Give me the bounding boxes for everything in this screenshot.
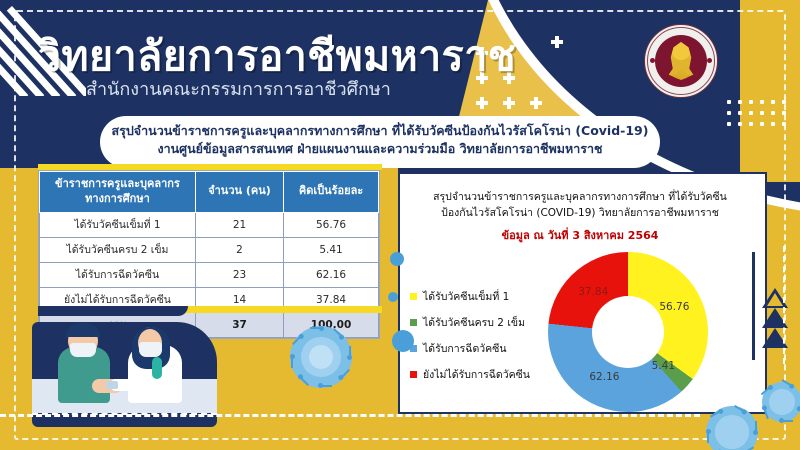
- table-header-row: ข้าราชการครูและบุคลากรทางการศึกษา จำนวน …: [40, 172, 379, 213]
- table-cell-label: ได้รับวัคซีนครบ 2 เข็ม: [40, 237, 196, 262]
- legend-swatch-icon: [410, 319, 417, 326]
- donut-center-hole: [592, 296, 664, 368]
- table-cell-percent: 5.41: [284, 237, 379, 262]
- syringe-icon: [106, 381, 118, 389]
- patient-face-mask: [70, 343, 96, 357]
- chart-title: สรุปจำนวนข้าราชการครูและบุคลากรทางการศึก…: [404, 190, 756, 222]
- header-right-yellow-strip: [740, 0, 800, 182]
- nurse-face-mask: [139, 342, 162, 357]
- donut-data-label: 5.41: [652, 360, 675, 372]
- coronavirus-particle-icon: [390, 252, 404, 266]
- coronavirus-particle-icon: [706, 406, 758, 450]
- table-row: ได้รับวัคซีนเข็มที่ 1 21 56.76: [40, 212, 379, 237]
- college-seal-logo: [644, 24, 718, 98]
- plus-decor-icon: [551, 36, 563, 48]
- banner-line-2: งานศูนย์ข้อมูลสารสนเทศ ฝ่ายแผนงานและความ…: [100, 139, 660, 159]
- virus-core: [715, 415, 748, 448]
- donut-data-label: 37.84: [578, 286, 608, 298]
- donut-data-label: 62.16: [589, 371, 619, 383]
- legend-label: ได้รับวัคซีนครบ 2 เข็ม: [423, 314, 525, 331]
- right-dashed-line: [783, 246, 785, 364]
- table-cell-percent: 56.76: [284, 212, 379, 237]
- table-row: ได้รับการฉีดวัคซีน 23 62.16: [40, 262, 379, 287]
- coronavirus-particle-icon: [762, 382, 800, 422]
- patient-hair: [66, 323, 100, 337]
- table-col-header-category: ข้าราชการครูและบุคลากรทางการศึกษา: [40, 172, 196, 213]
- table-cell-count: 2: [195, 237, 283, 262]
- plus-decor-icon: [530, 97, 542, 109]
- legend-item[interactable]: ได้รับการฉีดวัคซีน: [410, 340, 530, 357]
- legend-label: ได้รับวัคซีนเข็มที่ 1: [423, 288, 509, 305]
- legend-swatch-icon: [410, 293, 417, 300]
- coronavirus-particle-icon: [290, 326, 352, 388]
- table-cell-label: ได้รับวัคซีนเข็มที่ 1: [40, 212, 196, 237]
- table-total-count: 37: [195, 312, 283, 337]
- table-cell-count: 21: [195, 212, 283, 237]
- chart-title-line-1: สรุปจำนวนข้าราชการครูและบุคลากรทางการศึก…: [404, 190, 756, 206]
- table-cell-percent: 62.16: [284, 262, 379, 287]
- seal-side-dot: [707, 58, 712, 63]
- table-col-header-count: จำนวน (คน): [195, 172, 283, 213]
- table-bottom-navy-tab: [38, 306, 188, 316]
- chart-title-line-2: ป้องกันไวรัสโคโรน่า (COVID-19) วิทยาลัยก…: [404, 206, 756, 222]
- banner-line-1: สรุปจำนวนข้าราชการครูและบุคลากรทางการศึก…: [100, 121, 660, 141]
- plus-decor-icon: [503, 97, 515, 109]
- coronavirus-particle-icon: [388, 292, 398, 302]
- chart-legend: ได้รับวัคซีนเข็มที่ 1 ได้รับวัคซีนครบ 2 …: [410, 288, 530, 392]
- legend-swatch-icon: [410, 371, 417, 378]
- table-col-header-percent: คิดเป็นร้อยละ: [284, 172, 379, 213]
- legend-item[interactable]: ได้รับวัคซีนครบ 2 เข็ม: [410, 314, 530, 331]
- dot-grid-decor: [727, 100, 786, 126]
- nurse-stethoscope: [152, 357, 162, 379]
- seal-emblem-icon: [664, 42, 698, 80]
- table-cell-label: ได้รับการฉีดวัคซีน: [40, 262, 196, 287]
- coronavirus-particle-icon: [392, 330, 414, 352]
- legend-label: ได้รับการฉีดวัคซีน: [423, 340, 507, 357]
- legend-item[interactable]: ยังไม่ได้รับการฉีดวัคซีน: [410, 366, 530, 383]
- seal-inner-disc: [655, 35, 707, 87]
- table-row: ได้รับวัคซีนครบ 2 เข็ม 2 5.41: [40, 237, 379, 262]
- plus-decor-icon: [476, 97, 488, 109]
- donut-data-label: 56.76: [659, 301, 689, 313]
- poster-canvas: วิทยาลัยการอาชีพมหาราช สำนักงานคณะกรรมกา…: [0, 0, 800, 450]
- donut-chart[interactable]: 56.76 5.41 62.16 37.84: [548, 252, 708, 412]
- right-vertical-line: [752, 252, 755, 360]
- table-cell-count: 23: [195, 262, 283, 287]
- nurse-vaccinating-patient-illustration: [32, 322, 217, 427]
- legend-label: ยังไม่ได้รับการฉีดวัคซีน: [423, 366, 530, 383]
- page-subtitle: สำนักงานคณะกรรมการการอาชีวศึกษา: [86, 74, 391, 103]
- bottom-dashed-separator: [0, 414, 700, 417]
- chart-date-note: ข้อมูล ณ วันที่ 3 สิงหาคม 2564: [404, 226, 756, 244]
- virus-core: [769, 389, 795, 415]
- legend-item[interactable]: ได้รับวัคซีนเข็มที่ 1: [410, 288, 530, 305]
